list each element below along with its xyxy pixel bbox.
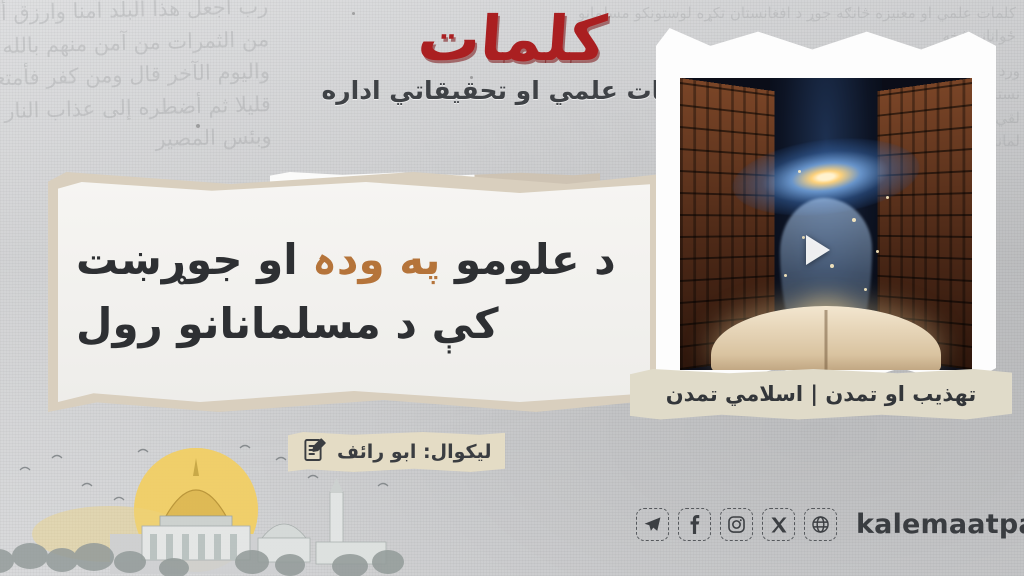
headline-line-1-before: د علومو	[440, 235, 615, 284]
photo-library-galaxy	[680, 78, 972, 370]
document-pen-icon	[302, 437, 328, 467]
poster-canvas: رب اجعل هذا البلد آمنا وارزق أهله من الث…	[0, 0, 1024, 576]
photo-star	[798, 170, 801, 173]
photo-star	[830, 264, 834, 268]
category-label: تهذیب او تمدن | اسلامي تمدن	[666, 382, 977, 406]
headline-line-2: کې د مسلمانانو رول	[76, 299, 499, 349]
x-twitter-icon[interactable]	[762, 508, 795, 541]
telegram-icon[interactable]	[636, 508, 669, 541]
author-label: لیکوال: ابو رائف	[337, 441, 491, 463]
play-triangle-icon[interactable]	[806, 235, 830, 265]
photo-star	[802, 236, 805, 239]
headline-block: د علومو په ودہ او جوړښت کې د مسلمانانو ر…	[58, 182, 650, 402]
photo-star	[876, 250, 879, 253]
photo-star	[784, 274, 787, 277]
instagram-icon[interactable]	[720, 508, 753, 541]
photo-star	[864, 288, 867, 291]
paper-speck	[196, 124, 200, 128]
photo-star	[852, 218, 856, 222]
headline-line-1-accent: په ودہ	[312, 235, 440, 284]
footer-social-bar: kalemaatpa.net	[636, 508, 1024, 541]
brand-logo[interactable]: كلمات	[416, 8, 609, 70]
category-strip: تهذیب او تمدن | اسلامي تمدن	[630, 368, 1012, 420]
headline-line-1: د علومو په ودہ او جوړښت	[76, 235, 616, 285]
globe-icon[interactable]	[804, 508, 837, 541]
website-url[interactable]: kalemaatpa.net	[856, 509, 1024, 540]
headline-line-1-after: او جوړښت	[76, 235, 312, 284]
facebook-icon[interactable]	[678, 508, 711, 541]
author-badge: لیکوال: ابو رائف	[288, 432, 505, 472]
photo-star	[886, 196, 889, 199]
